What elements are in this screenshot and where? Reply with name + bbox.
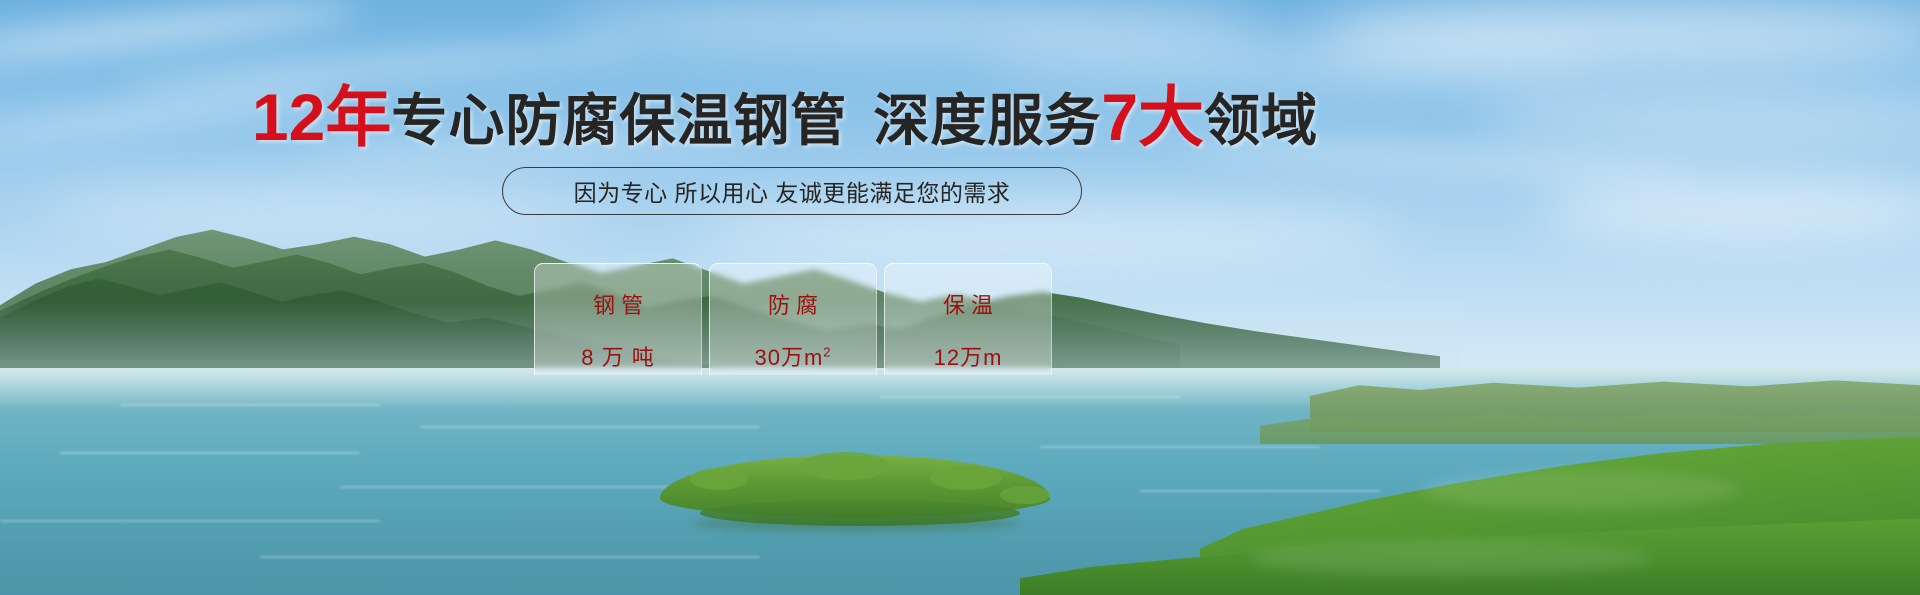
islet-tuft [690, 468, 748, 490]
headline-fields-count: 7大 [1101, 80, 1204, 154]
water-ripple [420, 426, 760, 428]
promo-banner: 12年专心防腐保温钢管深度服务7大领域 因为专心 所以用心 友诚更能满足您的需求… [0, 0, 1920, 595]
water-ripple [1140, 490, 1380, 492]
water-ripple [260, 556, 760, 558]
stat-card-label: 钢管 [587, 288, 649, 320]
grass-islet-base [700, 500, 1020, 526]
water-ripple [880, 396, 1180, 398]
stat-value-text: 30万m [754, 345, 823, 370]
water-ripple [1040, 446, 1320, 448]
stat-card-value: 8 万 吨 [581, 340, 654, 372]
islet-tuft [800, 452, 890, 480]
water-ripple [0, 520, 380, 522]
subtitle-pill: 因为专心 所以用心 友诚更能满足您的需求 [502, 167, 1082, 215]
stat-value-text: 12万m [934, 345, 1003, 370]
headline-main: 专心防腐保温钢管 [391, 89, 847, 152]
stat-card-insulation: 保温 12万m [884, 263, 1052, 375]
stat-card-value: 12万m [934, 340, 1003, 372]
islet-tuft [930, 466, 1002, 490]
headline-fields-label: 领域 [1204, 89, 1318, 152]
subtitle-text: 因为专心 所以用心 友诚更能满足您的需求 [574, 174, 1011, 208]
stat-card-label: 防腐 [762, 288, 824, 320]
headline-service: 深度服务 [873, 89, 1101, 152]
stat-card-group: 钢管 8 万 吨 防腐 30万m2 保温 12万m [534, 263, 1052, 375]
water-ripple [60, 452, 360, 454]
grass-highlight [1250, 540, 1650, 576]
banner-headline: 12年专心防腐保温钢管深度服务7大领域 [0, 84, 1570, 150]
stat-card-steel-pipe: 钢管 8 万 吨 [534, 263, 702, 375]
water-ripple [120, 404, 380, 406]
stat-value-exponent: 2 [823, 345, 831, 360]
grass-highlight [1420, 470, 1740, 510]
stat-card-anticorrosion: 防腐 30万m2 [709, 263, 877, 375]
islet-tuft [1000, 486, 1050, 504]
stat-value-text: 8 万 吨 [581, 345, 654, 370]
headline-years: 12年 [252, 80, 391, 154]
stat-card-label: 保温 [937, 288, 999, 320]
stat-card-value: 30万m2 [754, 340, 831, 372]
